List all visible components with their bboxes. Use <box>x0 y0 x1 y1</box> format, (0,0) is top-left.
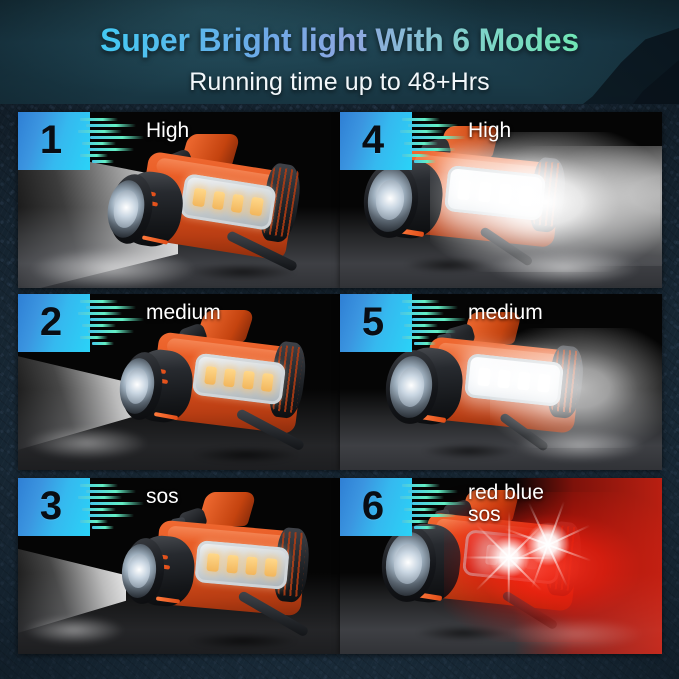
panel-2-badge-group: 2 medium <box>18 294 221 352</box>
mode-panel-2[interactable]: 2 medium <box>18 294 340 470</box>
mode-panel-4[interactable]: 4 High <box>340 112 662 288</box>
brush-stroke-decoration <box>400 112 466 170</box>
cob-side-panel <box>194 540 289 590</box>
panel-mode-label: High <box>468 120 511 142</box>
torch-shadow <box>168 260 318 284</box>
page-subtitle: Running time up to 48+Hrs <box>0 68 679 97</box>
brush-stroke-decoration <box>78 112 144 170</box>
brush-stroke-decoration <box>400 478 466 536</box>
torch-shadow <box>388 254 508 276</box>
panel-number: 2 <box>40 302 62 342</box>
mode-panel-6[interactable]: 6 red blue sos <box>340 478 662 654</box>
torch-shadow <box>404 440 534 462</box>
panel-number: 3 <box>40 486 62 526</box>
mode-panel-5[interactable]: 5 medium <box>340 294 662 470</box>
panel-mode-label: medium <box>146 302 221 324</box>
torch-shadow <box>174 444 318 466</box>
mode-panel-3[interactable]: 3 sos <box>18 478 340 654</box>
panel-5-badge-group: 5 medium <box>340 294 543 352</box>
panel-number: 4 <box>362 120 384 160</box>
panel-1-badge-group: 1 High <box>18 112 189 170</box>
header: Super Bright light With 6 Modes Running … <box>0 0 679 108</box>
brush-stroke-decoration <box>400 294 466 352</box>
panel-mode-label: medium <box>468 302 543 324</box>
panel-number: 5 <box>362 302 384 342</box>
panel-mode-label: High <box>146 120 189 142</box>
mode-panel-1[interactable]: 1 High <box>18 112 340 288</box>
panel-mode-label: sos <box>146 486 179 508</box>
torch-shadow <box>398 622 528 644</box>
page-title: Super Bright light With 6 Modes <box>0 22 679 59</box>
panel-3-badge-group: 3 sos <box>18 478 179 536</box>
panel-number: 1 <box>40 120 62 160</box>
brush-stroke-decoration <box>78 294 144 352</box>
torch-shadow <box>168 630 318 652</box>
panel-6-badge-group: 6 red blue sos <box>340 478 544 536</box>
panel-mode-label: red blue sos <box>468 482 544 526</box>
brush-stroke-decoration <box>78 478 144 536</box>
panel-number: 6 <box>362 486 384 526</box>
panel-4-badge-group: 4 High <box>340 112 511 170</box>
